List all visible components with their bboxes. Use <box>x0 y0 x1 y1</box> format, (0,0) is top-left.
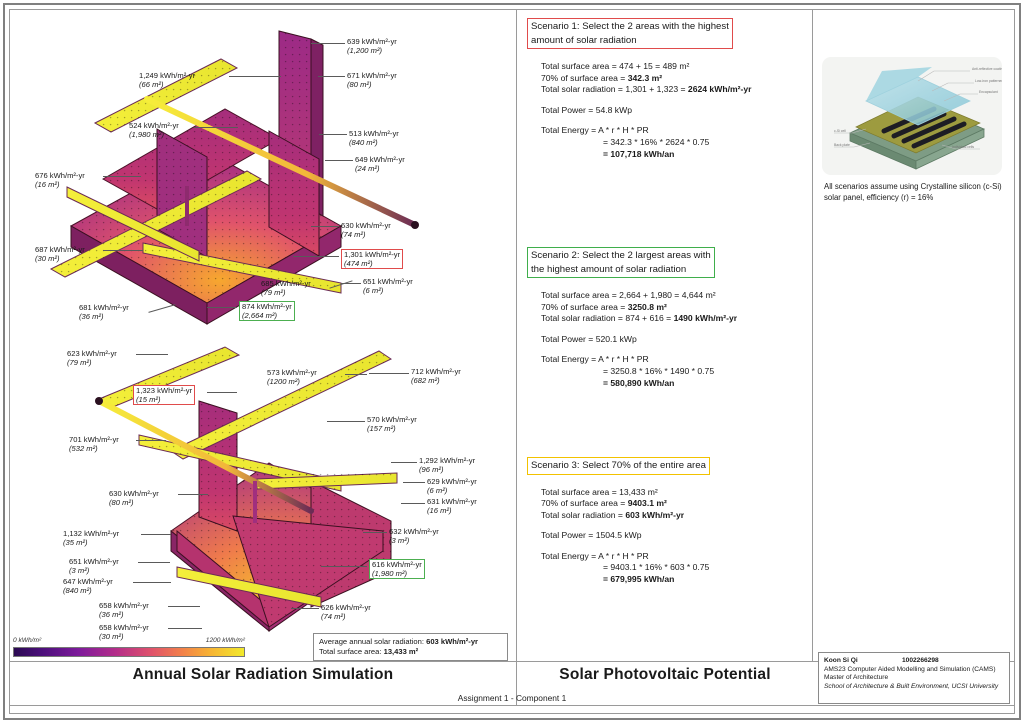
surface-annotation-lower-leader-line <box>168 606 200 607</box>
surface-annotation-lower-label: 573 kWh/m²-yr(1200 m²) <box>267 368 317 386</box>
scenario-1-energy-result: = 107,718 kWh/an <box>541 149 799 161</box>
surface-annotation-lower-area-value: (1,980 m²) <box>372 569 422 578</box>
surface-annotation-lower-leader-line <box>391 462 417 463</box>
surface-annotation-upper-label: 513 kWh/m²-yr(840 m²) <box>349 129 399 147</box>
scenario-2-heading-line2: the highest amount of solar radiation <box>531 263 711 277</box>
surface-annotation-lower-radiation-value: 658 kWh/m²-yr <box>99 623 149 632</box>
pv-label-backplate: Back plate <box>834 143 850 147</box>
surface-annotation-lower-radiation-value: 712 kWh/m²-yr <box>411 367 461 376</box>
surface-annotation-upper-radiation-value: 651 kWh/m²-yr <box>363 277 413 286</box>
surface-annotation-lower-radiation-value: 647 kWh/m²-yr <box>63 577 113 586</box>
scenario-3-total-power: Total Power = 1504.5 kWp <box>541 530 799 542</box>
surface-annotation-upper-label: 649 kWh/m²-yr(24 m²) <box>355 155 405 173</box>
average-radiation-row: Average annual solar radiation: 603 kWh/… <box>319 637 502 647</box>
scenario-2-heading: Scenario 2: Select the 2 largest areas w… <box>527 247 715 278</box>
scenario-1-energy-formula-text: Total Energy = A * r * H * PR <box>541 125 649 135</box>
surface-annotation-lower-radiation-value: 1,292 kWh/m²-yr <box>419 456 475 465</box>
surface-annotation-upper-area-value: (1,980 m²) <box>129 130 179 139</box>
surface-annotation-lower-area-value: (682 m²) <box>411 376 461 385</box>
surface-annotation-lower-leader-line <box>291 608 319 609</box>
surface-annotation-upper-area-value: (74 m²) <box>341 230 391 239</box>
surface-annotation-lower-leader-line <box>363 532 387 533</box>
scenario-3-radiation-label: Total solar radiation = <box>541 510 625 520</box>
surface-annotation-upper-radiation-value: 874 kWh/m²-yr <box>242 302 292 311</box>
spacer <box>541 345 799 354</box>
student-id: 1002266298 <box>902 657 939 664</box>
surface-annotation-upper-leader-line <box>103 176 141 177</box>
surface-annotation-lower-leader-line <box>403 482 425 483</box>
scenario-1-energy-calc-text: = 342.3 * 16% * 2624 * 0.75 <box>603 137 709 147</box>
solar-panel-illustration: Anti-reflective coating (optional) Low-i… <box>822 57 1002 175</box>
scenario-3-radiation-value: 603 kWh/m²-yr <box>625 510 684 520</box>
surface-annotation-lower-label: 629 kWh/m²-yr(6 m²) <box>427 477 477 495</box>
surface-annotation-lower-label: 616 kWh/m²-yr(1,980 m²) <box>369 559 425 579</box>
surface-annotation-upper-area-value: (66 m²) <box>139 80 195 89</box>
surface-annotation-lower-radiation-value: 570 kWh/m²-yr <box>367 415 417 424</box>
surface-annotation-lower-label: 1,132 kWh/m²-yr(35 m²) <box>63 529 119 547</box>
spacer <box>541 521 799 530</box>
surface-annotation-lower-leader-line <box>401 503 425 504</box>
scenario-1-seventy-percent: 70% of surface area = 342.3 m² <box>541 73 799 85</box>
scenario-3-seventy-value: 9403.1 m² <box>628 498 667 508</box>
legend-max-label: 1200 kWh/m² <box>206 637 245 644</box>
scenario-3-energy-calc: = 9403.1 * 16% * 603 * 0.75 <box>541 562 799 574</box>
surface-annotation-upper-radiation-value: 1,301 kWh/m²-yr <box>344 250 400 259</box>
scenario-2-energy-calc: = 3250.8 * 16% * 1490 * 0.75 <box>541 366 799 378</box>
scenario-1-seventy-label: 70% of surface area = <box>541 73 628 83</box>
average-radiation-value: 603 kWh/m²-yr <box>426 637 478 646</box>
surface-annotation-upper-radiation-value: 676 kWh/m²-yr <box>35 171 85 180</box>
surface-annotation-lower-radiation-value: 701 kWh/m²-yr <box>69 435 119 444</box>
surface-annotation-lower-area-value: (15 m²) <box>136 395 192 404</box>
surface-annotation-lower-label: 701 kWh/m²-yr(532 m²) <box>69 435 119 453</box>
surface-annotation-lower-area-value: (35 m²) <box>63 538 119 547</box>
surface-annotation-lower-label: 647 kWh/m²-yr(840 m²) <box>63 577 113 595</box>
spacer <box>541 96 799 105</box>
surface-annotation-upper-label: 671 kWh/m²-yr(80 m²) <box>347 71 397 89</box>
pv-label-anti-reflective: Anti-reflective coating (optional) <box>972 67 1002 71</box>
scenario-2: Scenario 2: Select the 2 largest areas w… <box>527 247 799 389</box>
surface-annotation-lower-area-value: (157 m²) <box>367 424 417 433</box>
surface-annotation-upper-area-value: (474 m²) <box>344 259 400 268</box>
legend-gradient-bar <box>13 647 245 657</box>
scenario-2-total-power-text: Total Power = 520.1 kWp <box>541 334 637 344</box>
surface-annotation-lower-area-value: (16 m²) <box>427 506 477 515</box>
surface-annotation-lower-label: 632 kWh/m²-yr(3 m²) <box>389 527 439 545</box>
surface-annotation-lower-label: 626 kWh/m²-yr(74 m²) <box>321 603 371 621</box>
surface-annotation-lower-radiation-value: 616 kWh/m²-yr <box>372 560 422 569</box>
surface-annotation-upper-leader-line <box>318 76 345 77</box>
scenario-3-energy-calc-text: = 9403.1 * 16% * 603 * 0.75 <box>603 562 709 572</box>
surface-annotation-upper-area-value: (840 m²) <box>349 138 399 147</box>
scenario-1-total-radiation: Total solar radiation = 1,301 + 1,323 = … <box>541 84 799 96</box>
surface-annotation-upper-label: 681 kWh/m²-yr(36 m²) <box>79 303 129 321</box>
surface-annotation-upper-area-value: (2,664 m²) <box>242 311 292 320</box>
surface-annotation-upper-leader-line <box>325 160 353 161</box>
drawing-sheet: 1,249 kWh/m²-yr(66 m²)639 kWh/m²-yr(1,20… <box>0 0 1024 723</box>
spacer <box>541 116 799 125</box>
spacer <box>541 325 799 334</box>
surface-annotation-upper-leader-line <box>207 307 237 308</box>
surface-annotation-lower-area-value: (36 m²) <box>99 610 149 619</box>
scenario-2-energy-formula-text: Total Energy = A * r * H * PR <box>541 354 649 364</box>
scenario-2-seventy-value: 3250.8 m² <box>628 302 667 312</box>
surface-annotation-upper-label: 874 kWh/m²-yr(2,664 m²) <box>239 301 295 321</box>
scenario-2-total-power: Total Power = 520.1 kWp <box>541 334 799 346</box>
surface-annotation-upper-radiation-value: 513 kWh/m²-yr <box>349 129 399 138</box>
surface-annotation-lower-radiation-value: 573 kWh/m²-yr <box>267 368 317 377</box>
surface-annotation-upper-label: 630 kWh/m²-yr(74 m²) <box>341 221 391 239</box>
surface-annotation-lower-label: 1,292 kWh/m²-yr(96 m²) <box>419 456 475 474</box>
summary-box: Average annual solar radiation: 603 kWh/… <box>313 633 508 661</box>
surface-annotation-upper-label: 651 kWh/m²-yr(6 m²) <box>363 277 413 295</box>
surface-annotation-upper-leader-line <box>311 43 345 44</box>
scenario-1-heading: Scenario 1: Select the 2 areas with the … <box>527 18 733 49</box>
surface-annotation-lower-label: 1,323 kWh/m²-yr(15 m²) <box>133 385 195 405</box>
scenario-1-heading-line2: amount of solar radiation <box>531 34 729 48</box>
footer-divider <box>10 705 1014 706</box>
surface-annotation-lower-label: 658 kWh/m²-yr(36 m²) <box>99 601 149 619</box>
surface-annotation-lower-radiation-value: 1,323 kWh/m²-yr <box>136 386 192 395</box>
right-panel-title: Solar Photovoltaic Potential <box>520 666 810 684</box>
surface-annotation-upper-leader-line <box>319 134 347 135</box>
surface-annotation-lower-leader-line <box>133 582 171 583</box>
surface-annotation-upper-area-value: (6 m²) <box>363 286 413 295</box>
surface-annotation-lower-area-value: (80 m²) <box>109 498 159 507</box>
left-panel-title: Annual Solar Radiation Simulation <box>11 666 515 684</box>
pv-label-encapsulant: Encapsulant <box>979 90 998 94</box>
scenario-1-surface-area-text: Total surface area = 474 + 15 = 489 m² <box>541 61 689 71</box>
surface-annotation-lower-area-value: (840 m²) <box>63 586 113 595</box>
scenario-2-surface-area-text: Total surface area = 2,664 + 1,980 = 4,6… <box>541 290 716 300</box>
surface-annotation-upper-radiation-value: 630 kWh/m²-yr <box>341 221 391 230</box>
surface-annotation-lower-area-value: (3 m²) <box>69 566 119 575</box>
surface-annotation-upper-area-value: (16 m²) <box>35 180 85 189</box>
surface-annotation-upper-label: 685 kWh/m²-yr(79 m²) <box>261 279 311 297</box>
surface-annotation-lower-radiation-value: 651 kWh/m²-yr <box>69 557 119 566</box>
scenario-3-heading: Scenario 3: Select 70% of the entire are… <box>527 457 710 475</box>
surface-annotation-lower-leader-line <box>178 494 208 495</box>
scenario-3-seventy-label: 70% of surface area = <box>541 498 628 508</box>
pv-label-individual-cells: Individual cells <box>952 145 974 149</box>
surface-annotation-lower-leader-line <box>136 354 168 355</box>
title-block-identity: Koon Si Qi1002266298 <box>824 657 1004 666</box>
surface-annotation-lower-label: 630 kWh/m²-yr(80 m²) <box>109 489 159 507</box>
surface-annotation-lower-area-value: (74 m²) <box>321 612 371 621</box>
surface-annotation-lower-label: 631 kWh/m²-yr(16 m²) <box>427 497 477 515</box>
surface-annotation-lower-radiation-value: 632 kWh/m²-yr <box>389 527 439 536</box>
right-column-divider <box>812 10 813 661</box>
scenario-1-surface-area: Total surface area = 474 + 15 = 489 m² <box>541 61 799 73</box>
surface-annotation-lower-leader-line <box>141 534 171 535</box>
surface-annotation-lower-radiation-value: 626 kWh/m²-yr <box>321 603 371 612</box>
scenario-3-energy-result-text: = 679,995 kWh/an <box>603 574 674 584</box>
surface-annotation-upper-label: 1,249 kWh/m²-yr(66 m²) <box>139 71 195 89</box>
assignment-label: Assignment 1 - Component 1 <box>300 693 724 703</box>
surface-annotation-upper-radiation-value: 524 kWh/m²-yr <box>129 121 179 130</box>
scenario-3-seventy-percent: 70% of surface area = 9403.1 m² <box>541 498 799 510</box>
surface-annotation-upper-area-value: (36 m²) <box>79 312 129 321</box>
total-area-row: Total surface area: 13,433 m² <box>319 647 502 657</box>
surface-annotation-upper-label: 676 kWh/m²-yr(16 m²) <box>35 171 85 189</box>
surface-annotation-lower-radiation-value: 629 kWh/m²-yr <box>427 477 477 486</box>
scenario-3-energy-formula-text: Total Energy = A * r * H * PR <box>541 551 649 561</box>
surface-annotation-lower-leader-line <box>345 374 367 375</box>
surface-annotation-upper-leader-line <box>341 283 361 284</box>
surface-annotation-upper-area-value: (80 m²) <box>347 80 397 89</box>
surface-annotation-upper-label: 639 kWh/m²-yr(1,200 m²) <box>347 37 397 55</box>
scenario-2-surface-area: Total surface area = 2,664 + 1,980 = 4,6… <box>541 290 799 302</box>
pv-label-glass: Low-iron patterned glass <box>975 79 1002 83</box>
surface-annotation-lower-leader-line <box>327 421 365 422</box>
scenario-3-total-power-text: Total Power = 1504.5 kWp <box>541 530 642 540</box>
surface-annotation-upper-radiation-value: 681 kWh/m²-yr <box>79 303 129 312</box>
scenario-1-total-power: Total Power = 54.8 kWp <box>541 105 799 117</box>
surface-annotation-lower-radiation-value: 658 kWh/m²-yr <box>99 601 149 610</box>
scenario-2-seventy-percent: 70% of surface area = 3250.8 m² <box>541 302 799 314</box>
surface-annotation-lower-leader-line <box>136 440 166 441</box>
spacer <box>541 542 799 551</box>
surface-annotation-upper-radiation-value: 685 kWh/m²-yr <box>261 279 311 288</box>
surface-annotation-lower-area-value: (3 m²) <box>389 536 439 545</box>
surface-annotation-lower-leader-line <box>138 562 170 563</box>
scenario-2-heading-line1: Scenario 2: Select the 2 largest areas w… <box>531 249 711 263</box>
scenario-2-body: Total surface area = 2,664 + 1,980 = 4,6… <box>541 290 799 389</box>
school-name: School of Architecture & Built Environme… <box>824 683 1004 692</box>
scenario-1-energy-calc: = 342.3 * 16% * 2624 * 0.75 <box>541 137 799 149</box>
surface-annotation-lower-label: 623 kWh/m²-yr(79 m²) <box>67 349 117 367</box>
scenario-2-seventy-label: 70% of surface area = <box>541 302 628 312</box>
surface-annotation-lower-area-value: (79 m²) <box>67 358 117 367</box>
scenario-3-total-radiation: Total solar radiation = 603 kWh/m²-yr <box>541 510 799 522</box>
scenario-2-energy-formula: Total Energy = A * r * H * PR <box>541 354 799 366</box>
title-block: Koon Si Qi1002266298 AMS23 Computer Aide… <box>818 652 1010 704</box>
legend-min-label: 0 kWh/m² <box>13 637 41 644</box>
surface-annotation-lower-radiation-value: 1,132 kWh/m²-yr <box>63 529 119 538</box>
surface-annotation-lower-area-value: (1200 m²) <box>267 377 317 386</box>
scenario-1-seventy-value: 342.3 m² <box>628 73 662 83</box>
scenario-3: Scenario 3: Select 70% of the entire are… <box>527 455 799 586</box>
surface-annotation-upper-leader-line <box>103 250 143 251</box>
surface-annotation-lower-area-value: (96 m²) <box>419 465 475 474</box>
surface-annotation-lower-label: 570 kWh/m²-yr(157 m²) <box>367 415 417 433</box>
scenario-2-energy-calc-text: = 3250.8 * 16% * 1490 * 0.75 <box>603 366 714 376</box>
surface-annotation-upper-area-value: (79 m²) <box>261 288 311 297</box>
surface-annotation-upper-leader-line <box>194 127 238 128</box>
color-legend: 0 kWh/m² 1200 kWh/m² <box>13 637 245 657</box>
surface-annotation-upper-area-value: (30 m²) <box>35 254 85 263</box>
total-area-label: Total surface area: <box>319 647 384 656</box>
pv-assumption-note: All scenarios assume using Crystalline s… <box>824 182 1004 203</box>
scenario-2-total-radiation: Total solar radiation = 874 + 616 = 1490… <box>541 313 799 325</box>
scenario-1-heading-line1: Scenario 1: Select the 2 areas with the … <box>531 20 729 34</box>
program-name: Master of Architecture <box>824 674 1004 683</box>
surface-annotation-lower-radiation-value: 623 kWh/m²-yr <box>67 349 117 358</box>
scenario-1-body: Total surface area = 474 + 15 = 489 m²70… <box>541 61 799 160</box>
surface-annotation-lower-leader-line <box>369 373 409 374</box>
legend-tick-labels: 0 kWh/m² 1200 kWh/m² <box>13 637 245 647</box>
scenario-3-body: Total surface area = 13,433 m²70% of sur… <box>541 487 799 586</box>
surface-annotation-upper-radiation-value: 1,249 kWh/m²-yr <box>139 71 195 80</box>
surface-annotation-lower-area-value: (532 m²) <box>69 444 119 453</box>
surface-annotation-upper-radiation-value: 671 kWh/m²-yr <box>347 71 397 80</box>
surface-annotation-lower-radiation-value: 631 kWh/m²-yr <box>427 497 477 506</box>
surface-annotation-upper-label: 1,301 kWh/m²-yr(474 m²) <box>341 249 403 269</box>
scenario-1: Scenario 1: Select the 2 areas with the … <box>527 18 799 160</box>
surface-annotation-upper-area-value: (24 m²) <box>355 164 405 173</box>
scenario-1-radiation-label: Total solar radiation = 1,301 + 1,323 = <box>541 84 688 94</box>
surface-annotation-lower-label: 712 kWh/m²-yr(682 m²) <box>411 367 461 385</box>
pv-label-cell: c-Si cell <box>834 129 846 133</box>
surface-annotation-upper-leader-line <box>311 226 339 227</box>
solar-radiation-models: 1,249 kWh/m²-yr(66 m²)639 kWh/m²-yr(1,20… <box>11 11 515 659</box>
scenario-3-energy-result: = 679,995 kWh/an <box>541 574 799 586</box>
scenario-1-energy-formula: Total Energy = A * r * H * PR <box>541 125 799 137</box>
surface-annotation-upper-leader-line <box>229 76 281 77</box>
scenario-2-energy-result-text: = 580,890 kWh/an <box>603 378 674 388</box>
surface-annotation-upper-radiation-value: 649 kWh/m²-yr <box>355 155 405 164</box>
scenario-2-radiation-label: Total solar radiation = 874 + 616 = <box>541 313 674 323</box>
scenario-1-total-power-text: Total Power = 54.8 kWp <box>541 105 632 115</box>
surface-annotation-upper-label: 687 kWh/m²-yr(30 m²) <box>35 245 85 263</box>
surface-annotation-lower-label: 651 kWh/m²-yr(3 m²) <box>69 557 119 575</box>
total-area-value: 13,433 m² <box>384 647 419 656</box>
surface-annotation-lower-leader-line <box>321 566 367 567</box>
surface-annotation-upper-leader-line <box>293 256 339 257</box>
scenario-3-energy-formula: Total Energy = A * r * H * PR <box>541 551 799 563</box>
surface-annotation-upper-label: 524 kWh/m²-yr(1,980 m²) <box>129 121 179 139</box>
scenario-2-energy-result: = 580,890 kWh/an <box>541 378 799 390</box>
scenario-3-surface-area: Total surface area = 13,433 m² <box>541 487 799 499</box>
scenario-1-radiation-value: 2624 kWh/m²-yr <box>688 84 752 94</box>
surface-annotation-upper-area-value: (1,200 m²) <box>347 46 397 55</box>
panel-divider <box>516 10 517 661</box>
scenario-1-energy-result-text: = 107,718 kWh/an <box>603 149 674 159</box>
scenario-3-surface-area-text: Total surface area = 13,433 m² <box>541 487 658 497</box>
course-name: AMS23 Computer Aided Modelling and Simul… <box>824 666 1004 675</box>
surface-annotation-lower-radiation-value: 630 kWh/m²-yr <box>109 489 159 498</box>
average-radiation-label: Average annual solar radiation: <box>319 637 426 646</box>
surface-annotation-upper-radiation-value: 687 kWh/m²-yr <box>35 245 85 254</box>
student-name: Koon Si Qi <box>824 657 902 666</box>
surface-annotation-lower-area-value: (6 m²) <box>427 486 477 495</box>
scenario-2-radiation-value: 1490 kWh/m²-yr <box>674 313 738 323</box>
surface-annotation-lower-leader-line <box>207 392 237 393</box>
surface-annotation-upper-radiation-value: 639 kWh/m²-yr <box>347 37 397 46</box>
surface-annotation-lower-leader-line <box>168 628 202 629</box>
